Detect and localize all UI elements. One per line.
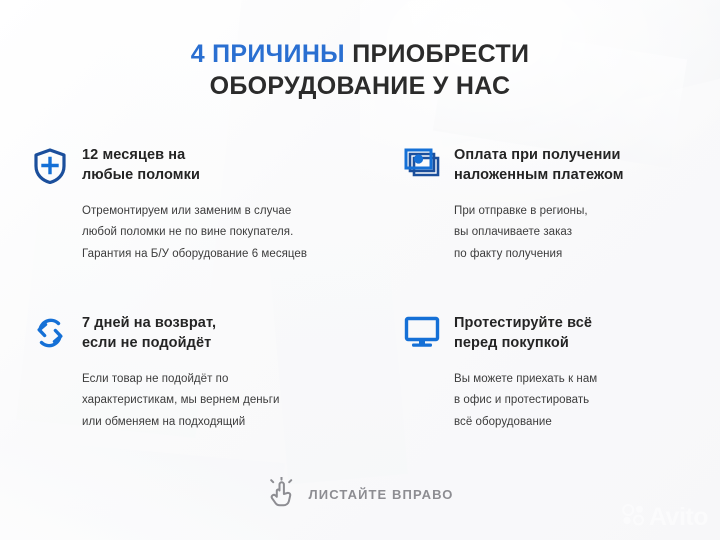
feature-cash-desc-line-2: вы оплачиваете заказ <box>454 222 624 243</box>
swipe-hint[interactable]: ЛИСТАЙТЕ ВПРАВО <box>0 477 720 512</box>
feature-test-before-buy-description: Вы можете приехать к нам в офис и протес… <box>454 369 597 433</box>
feature-warranty-title-line-2: любые поломки <box>82 166 307 186</box>
feature-warranty-desc-line-2: любой поломки не по вине покупателя. <box>82 222 307 243</box>
feature-return-title-line-1: 7 дней на возврат, <box>82 314 279 334</box>
feature-return-desc-line-1: Если товар не подойдёт по <box>82 369 279 390</box>
feature-return-title-line-2: если не подойдёт <box>82 334 279 354</box>
feature-warranty-description: Отремонтируем или заменим в случае любой… <box>82 201 307 265</box>
refresh-exchange-icon <box>30 316 70 356</box>
monitor-icon <box>402 316 442 356</box>
avito-watermark: Avito <box>622 503 708 532</box>
swipe-hint-label: ЛИСТАЙТЕ ВПРАВО <box>309 487 454 502</box>
feature-return-policy-title: 7 дней на возврат, если не подойдёт <box>82 314 279 353</box>
feature-test-before-buy: Протестируйте всё перед покупкой Вы може… <box>402 314 712 433</box>
page-title: 4 ПРИЧИНЫ ПРИОБРЕСТИ ОБОРУДОВАНИЕ У НАС <box>0 0 720 102</box>
avito-watermark-text: Avito <box>649 503 708 532</box>
feature-cash-desc-line-3: по факту получения <box>454 244 624 265</box>
headline-line-1-rest: ПРИОБРЕСТИ <box>352 40 529 68</box>
feature-test-before-buy-body: Протестируйте всё перед покупкой Вы може… <box>454 314 597 433</box>
feature-return-policy-body: 7 дней на возврат, если не подойдёт Если… <box>82 314 279 433</box>
feature-return-desc-line-3: или обменяем на подходящий <box>82 412 279 433</box>
avito-logo-icon <box>622 504 646 531</box>
feature-warranty-desc-line-3: Гарантия на Б/У оборудование 6 месяцев <box>82 244 307 265</box>
feature-test-before-buy-title: Протестируйте всё перед покупкой <box>454 314 597 353</box>
feature-warranty-title: 12 месяцев на любые поломки <box>82 146 307 185</box>
feature-return-policy-description: Если товар не подойдёт по характеристика… <box>82 369 279 433</box>
feature-warranty-body: 12 месяцев на любые поломки Отремонтируе… <box>82 146 307 265</box>
feature-return-policy: 7 дней на возврат, если не подойдёт Если… <box>30 314 402 433</box>
feature-cash-on-delivery-body: Оплата при получении наложенным платежом… <box>454 146 624 265</box>
feature-test-desc-line-1: Вы можете приехать к нам <box>454 369 597 390</box>
feature-cash-title-line-1: Оплата при получении <box>454 146 624 166</box>
feature-cash-desc-line-1: При отправке в регионы, <box>454 201 624 222</box>
feature-test-desc-line-2: в офис и протестировать <box>454 390 597 411</box>
headline-highlight: 4 ПРИЧИНЫ <box>191 40 345 68</box>
features-grid: 12 месяцев на любые поломки Отремонтируе… <box>0 146 720 433</box>
feature-cash-on-delivery-title: Оплата при получении наложенным платежом <box>454 146 624 185</box>
feature-test-title-line-1: Протестируйте всё <box>454 314 597 334</box>
feature-cash-title-line-2: наложенным платежом <box>454 166 624 186</box>
shield-plus-icon <box>30 148 70 188</box>
promo-slide: 4 ПРИЧИНЫ ПРИОБРЕСТИ ОБОРУДОВАНИЕ У НАС … <box>0 0 720 540</box>
feature-return-desc-line-2: характеристикам, мы вернем деньги <box>82 390 279 411</box>
headline-line-2: ОБОРУДОВАНИЕ У НАС <box>0 70 720 102</box>
headline-line-1: 4 ПРИЧИНЫ ПРИОБРЕСТИ <box>0 38 720 70</box>
feature-warranty-title-line-1: 12 месяцев на <box>82 146 307 166</box>
feature-cash-on-delivery: Оплата при получении наложенным платежом… <box>402 146 712 314</box>
feature-cash-on-delivery-description: При отправке в регионы, вы оплачиваете з… <box>454 201 624 265</box>
feature-warranty: 12 месяцев на любые поломки Отремонтируе… <box>30 146 402 314</box>
feature-warranty-desc-line-1: Отремонтируем или заменим в случае <box>82 201 307 222</box>
banknotes-icon <box>402 148 442 188</box>
feature-test-desc-line-3: всё оборудование <box>454 412 597 433</box>
feature-test-title-line-2: перед покупкой <box>454 334 597 354</box>
swipe-hand-icon <box>267 477 295 512</box>
